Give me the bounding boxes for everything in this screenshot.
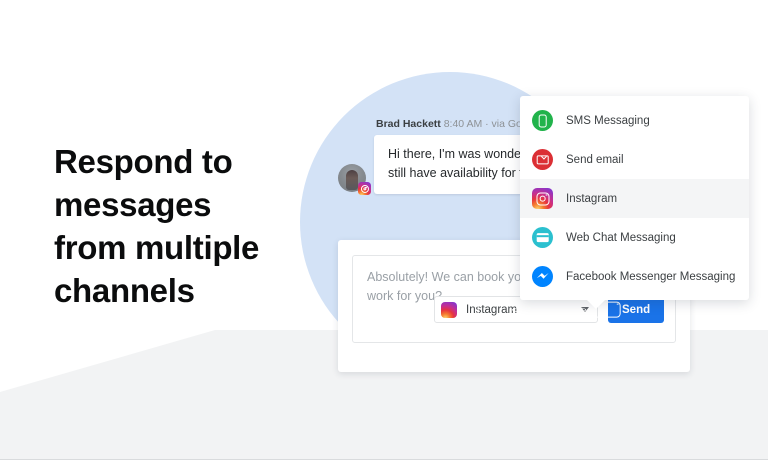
message-line-2: still have availability for tom (388, 164, 535, 183)
headline-line-3: from multiple (54, 226, 324, 269)
channel-dropdown-menu: SMS Messaging Send email Instagram Web C… (520, 96, 749, 300)
message-row: Hi there, I'm was wondering still have a… (338, 135, 549, 194)
menu-item-instagram[interactable]: Instagram (520, 179, 749, 218)
facebook-messenger-icon (532, 266, 553, 287)
sms-messaging-icon (532, 110, 553, 131)
message-line-1: Hi there, I'm was wondering (388, 145, 535, 164)
menu-item-label: SMS Messaging (566, 115, 650, 127)
instagram-icon (441, 302, 457, 318)
composer-actions: Instagram Send (434, 296, 664, 323)
instagram-icon (358, 182, 371, 195)
menu-item-send-email[interactable]: Send email (520, 140, 749, 179)
message-sender: Brad Hackett (376, 118, 441, 130)
instagram-icon (532, 188, 553, 209)
headline-line-1: Respond to (54, 140, 324, 183)
menu-item-label: Web Chat Messaging (566, 232, 676, 244)
menu-item-label: Send email (566, 154, 624, 166)
channel-select[interactable]: Instagram (434, 296, 598, 323)
conversation-thread: Brad Hackett 8:40 AM · via Google Hi the… (338, 118, 549, 194)
headline-line-2: messages (54, 183, 324, 226)
send-email-icon (532, 149, 553, 170)
menu-item-label: Instagram (566, 193, 617, 205)
page-title: Respond to messages from multiple channe… (54, 140, 324, 312)
menu-item-web-chat-messaging[interactable]: Web Chat Messaging (520, 218, 749, 257)
web-chat-icon (532, 227, 553, 248)
promo-illustration: Respond to messages from multiple channe… (0, 0, 768, 460)
menu-item-label: Facebook Messenger Messaging (566, 271, 735, 283)
menu-item-sms-messaging[interactable]: SMS Messaging (520, 101, 749, 140)
dropdown-pointer (586, 299, 606, 309)
menu-item-facebook-messenger-messaging[interactable]: Facebook Messenger Messaging (520, 257, 749, 296)
headline-line-4: channels (54, 269, 324, 312)
avatar (338, 164, 366, 192)
